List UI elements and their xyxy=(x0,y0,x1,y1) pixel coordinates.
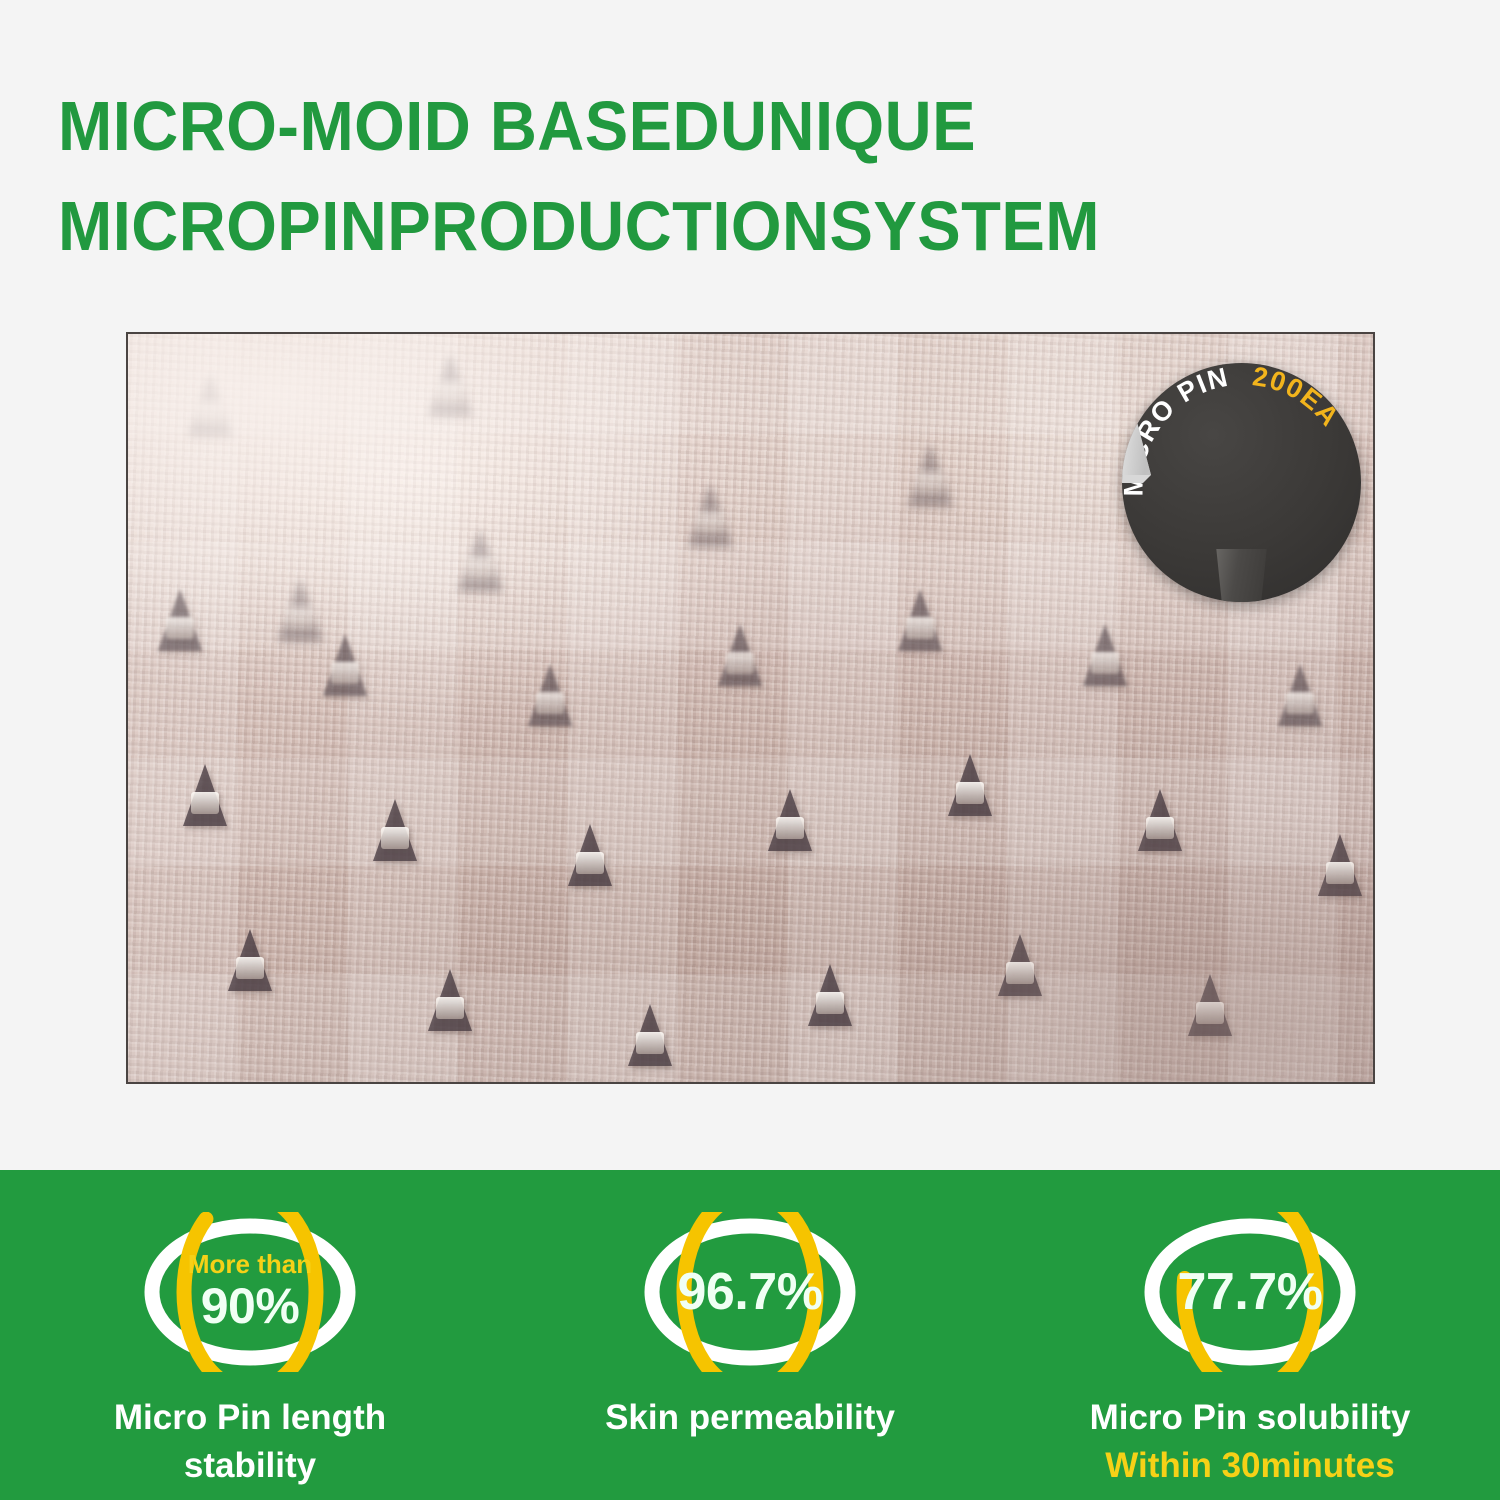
micro-pin-count-badge: MICRO PIN 200EA xyxy=(1122,363,1361,602)
micro-pin-glyph xyxy=(183,764,227,826)
stat-1-caption-line-1: Micro Pin length xyxy=(35,1394,465,1442)
stat-3-caption: Micro Pin solubility Within 30minutes xyxy=(1035,1394,1465,1490)
title-line-1: MICRO-MOID BASEDUNIQUE xyxy=(58,76,1267,176)
stat-skin-permeability: 96.7% Skin permeability xyxy=(500,1170,1000,1500)
micro-pin-glyph xyxy=(1083,624,1127,686)
progress-ring-3-text: 77.7% xyxy=(1135,1212,1365,1372)
stat-2-value: 96.7% xyxy=(678,1265,823,1319)
micro-pin-glyph xyxy=(1318,834,1362,896)
progress-ring-2-text: 96.7% xyxy=(635,1212,865,1372)
micro-pin-glyph xyxy=(458,529,502,591)
badge-label-yellow: 200EA xyxy=(1251,363,1346,433)
micro-pin-glyph xyxy=(1138,789,1182,851)
stat-1-pre-label: More than xyxy=(188,1251,312,1277)
micro-pin-glyph xyxy=(1278,664,1322,726)
micro-pin-glyph xyxy=(808,964,852,1026)
stats-band: More than 90% Micro Pin length stability xyxy=(0,1170,1500,1500)
micro-pin-glyph xyxy=(158,589,202,651)
stat-2-caption: Skin permeability xyxy=(535,1394,965,1442)
micro-pin-glyph xyxy=(768,789,812,851)
stat-3-caption-line-2: Within 30minutes xyxy=(1035,1442,1465,1490)
micro-pin-glyph xyxy=(228,929,272,991)
micro-pin-glyph xyxy=(278,579,322,641)
micro-pin-glyph xyxy=(528,664,572,726)
stat-1-caption-line-2: stability xyxy=(35,1442,465,1490)
title-line-2: MICROPINPRODUCTIONSYSTEM xyxy=(58,176,1267,276)
promo-page: MICRO-MOID BASEDUNIQUE MICROPINPRODUCTIO… xyxy=(0,0,1500,1500)
progress-ring-3: 77.7% xyxy=(1135,1212,1365,1372)
micro-pin-glyph xyxy=(948,754,992,816)
stat-micro-pin-solubility: 77.7% Micro Pin solubility Within 30minu… xyxy=(1000,1170,1500,1500)
stat-3-value: 77.7% xyxy=(1178,1265,1323,1319)
micro-pin-glyph xyxy=(428,969,472,1031)
stat-1-value: 90% xyxy=(201,1279,300,1333)
micro-pin-glyph xyxy=(373,799,417,861)
micro-pin-glyph xyxy=(898,589,942,651)
stats-row: More than 90% Micro Pin length stability xyxy=(0,1170,1500,1500)
page-title: MICRO-MOID BASEDUNIQUE MICROPINPRODUCTIO… xyxy=(58,76,1358,276)
micro-pin-glyph xyxy=(1188,974,1232,1036)
micro-pin-pyramid-icon xyxy=(1122,363,1163,483)
micro-pin-glyph xyxy=(688,484,732,546)
stat-1-caption: Micro Pin length stability xyxy=(35,1394,465,1490)
micro-pin-glyph xyxy=(568,824,612,886)
progress-ring-1-text: More than 90% xyxy=(135,1212,365,1372)
micro-pin-glyph xyxy=(718,624,762,686)
micro-pin-glyph xyxy=(908,444,952,506)
micro-pin-glyph xyxy=(428,354,472,416)
micro-pin-array-photo: MICRO PIN 200EA xyxy=(126,332,1375,1084)
stat-2-caption-line-1: Skin permeability xyxy=(535,1394,965,1442)
micro-pin-glyph xyxy=(188,374,232,436)
stat-micro-pin-length-stability: More than 90% Micro Pin length stability xyxy=(0,1170,500,1500)
micro-pin-glyph xyxy=(323,634,367,696)
micro-pin-glyph xyxy=(998,934,1042,996)
micro-pin-glyph xyxy=(628,1004,672,1066)
stat-3-caption-line-1: Micro Pin solubility xyxy=(1035,1394,1465,1442)
progress-ring-2: 96.7% xyxy=(635,1212,865,1372)
progress-ring-1: More than 90% xyxy=(135,1212,365,1372)
